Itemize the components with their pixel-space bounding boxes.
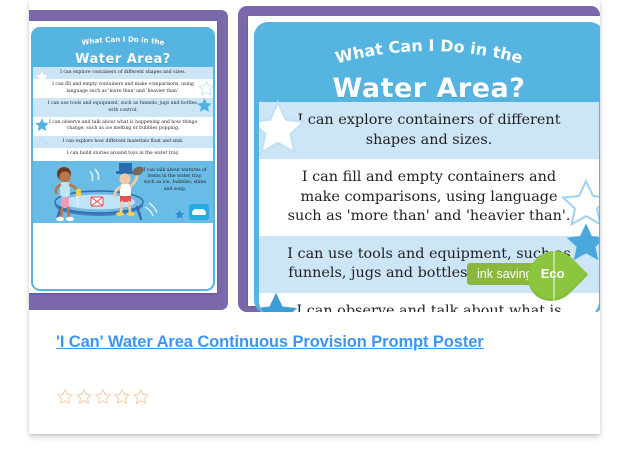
statement-text: I can observe and talk about what is hap… [49, 120, 197, 131]
svg-text:What Can I Do in the: What Can I Do in the [81, 35, 165, 47]
statement-text: I can build stories around toys in the w… [67, 151, 179, 156]
poster-statement: I can explore containers of different sh… [259, 102, 599, 159]
star-icon [196, 97, 213, 114]
rating-star-icon[interactable] [132, 388, 150, 406]
poster-heading-arc-left: What Can I Do in the [37, 35, 209, 51]
eco-ink-saving-badge: ink saving Eco [467, 262, 559, 286]
star-rating[interactable] [56, 388, 150, 406]
statement-text: I can explore containers of different sh… [60, 70, 186, 75]
statement-text: I can observe and talk about what is hap… [283, 303, 574, 313]
poster-heading-main-right: Water Area? [263, 74, 595, 104]
statement-text: I can explore containers of different sh… [298, 112, 561, 148]
rating-star-icon[interactable] [75, 388, 93, 406]
star-icon [34, 117, 50, 133]
resource-preview-image[interactable]: What Can I Do in the Water Area? I can e… [29, 0, 600, 312]
statement-text: I can use tools and equipment, such as f… [48, 101, 199, 112]
statement-text: I can fill and empty containers and make… [288, 169, 571, 224]
poster-statement: I can fill and empty containers and make… [259, 159, 599, 236]
poster-thumbnail[interactable]: What Can I Do in the Water Area? I can e… [31, 27, 215, 291]
svg-text:What Can I Do in the: What Can I Do in the [333, 38, 525, 67]
poster-illustration: I can talk about textures of items in th… [33, 161, 213, 223]
illustration-statement: I can talk about textures of items in th… [142, 168, 208, 193]
rating-star-icon[interactable] [113, 388, 131, 406]
statement-text: I can explore how different materials fl… [63, 139, 184, 144]
resource-card[interactable]: What Can I Do in the Water Area? I can e… [29, 0, 600, 434]
resource-title-link[interactable]: 'I Can' Water Area Continuous Provision … [56, 333, 484, 352]
eco-label: Eco [541, 266, 565, 281]
star-icon [254, 289, 301, 313]
poster-header-right: What Can I Do in the Water Area? [259, 26, 599, 102]
poster-heading-arc-right: What Can I Do in the [263, 38, 595, 72]
poster-heading-main-left: Water Area? [37, 52, 209, 67]
poster-statement: I can observe and talk about what is hap… [33, 117, 213, 136]
poster-statement: I can fill and empty containers and make… [33, 79, 213, 98]
resource-card-body: 'I Can' Water Area Continuous Provision … [29, 312, 600, 434]
poster-statement: I can use tools and equipment, such as f… [33, 98, 213, 117]
poster-header-left: What Can I Do in the Water Area? [33, 29, 213, 67]
poster-statement: I can explore how different materials fl… [33, 136, 213, 148]
rating-star-icon[interactable] [56, 388, 74, 406]
statement-text: I can fill and empty containers and make… [52, 82, 194, 93]
star-icon [198, 80, 215, 97]
twinkl-logo [189, 204, 209, 220]
poster-statement: I can build stories around toys in the w… [33, 148, 213, 160]
star-icon [254, 98, 309, 160]
rating-star-icon[interactable] [94, 388, 112, 406]
poster-statement: I can explore containers of different sh… [33, 67, 213, 79]
